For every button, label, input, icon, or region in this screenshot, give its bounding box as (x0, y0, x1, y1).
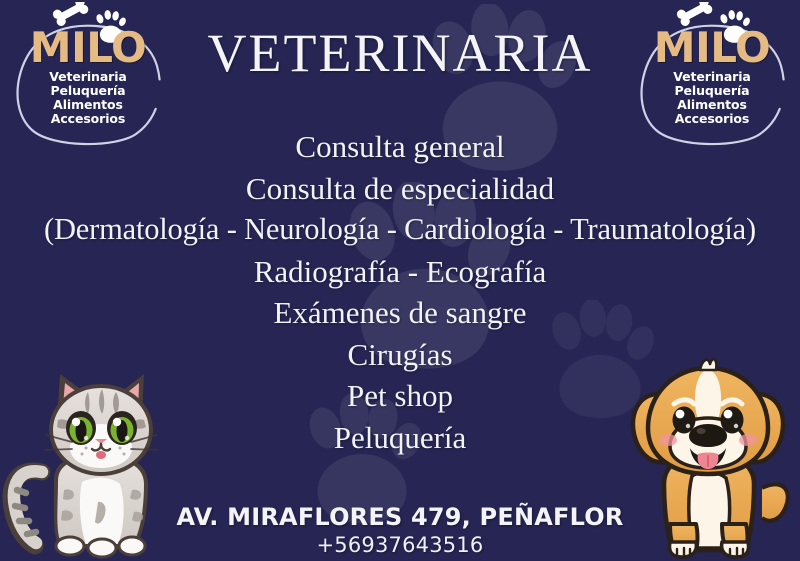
cat-illustration (2, 362, 192, 561)
logo-subtitle: Veterinaria Peluquería Alimentos Accesor… (4, 70, 172, 126)
logo-brand-name: MILO (4, 28, 172, 68)
service-item: Consulta de especialidad (0, 168, 800, 210)
service-item: Radiografía - Ecografía (0, 251, 800, 293)
service-item: Exámenes de sangre (0, 292, 800, 334)
logo-subtitle-line: Peluquería (4, 84, 172, 98)
veterinary-poster: MILO Veterinaria Peluquería Alimentos Ac… (0, 0, 800, 561)
service-item-specialties: (Dermatología - Neurología - Cardiología… (0, 209, 800, 251)
logo-subtitle: Veterinaria Peluquería Alimentos Accesor… (628, 70, 796, 126)
logo-subtitle-line: Peluquería (628, 84, 796, 98)
logo-subtitle-line: Accesorios (4, 112, 172, 126)
logo-brand-name: MILO (628, 28, 796, 68)
logo-subtitle-line: Alimentos (628, 98, 796, 112)
page-title: VETERINARIA (170, 26, 630, 80)
service-item: Consulta general (0, 126, 800, 168)
logo-subtitle-line: Veterinaria (628, 70, 796, 84)
logo-subtitle-line: Veterinaria (4, 70, 172, 84)
dog-illustration (620, 356, 798, 561)
logo-subtitle-line: Accesorios (628, 112, 796, 126)
logo-subtitle-line: Alimentos (4, 98, 172, 112)
